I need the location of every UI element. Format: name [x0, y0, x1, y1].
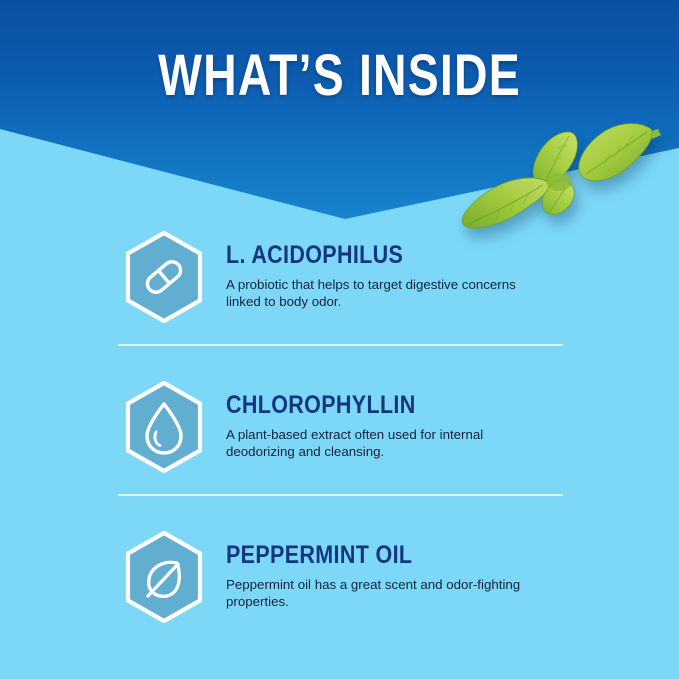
- ingredient-text: PEPPERMINT OIL Peppermint oil has a grea…: [226, 530, 526, 610]
- ingredient-item: CHLOROPHYLLIN A plant-based extract ofte…: [0, 380, 679, 460]
- ingredient-description: A plant-based extract often used for int…: [226, 427, 526, 460]
- ingredient-item: PEPPERMINT OIL Peppermint oil has a grea…: [0, 530, 679, 610]
- page-title: WHAT’S INSIDE: [68, 47, 611, 105]
- ingredient-item: L. ACIDOPHILUS A probiotic that helps to…: [0, 230, 679, 310]
- ingredient-description: Peppermint oil has a great scent and odo…: [226, 577, 526, 610]
- ingredient-title: L. ACIDOPHILUS: [226, 243, 484, 268]
- ingredient-title: CHLOROPHYLLIN: [226, 393, 484, 418]
- ingredient-text: L. ACIDOPHILUS A probiotic that helps to…: [226, 230, 526, 310]
- ingredient-text: CHLOROPHYLLIN A plant-based extract ofte…: [226, 380, 526, 460]
- ingredient-list: L. ACIDOPHILUS A probiotic that helps to…: [0, 230, 679, 610]
- water-droplet-icon: [122, 380, 206, 474]
- basil-leaves-icon: [455, 112, 670, 230]
- ingredient-title: PEPPERMINT OIL: [226, 543, 484, 568]
- ingredient-description: A probiotic that helps to target digesti…: [226, 277, 526, 310]
- capsule-pill-icon: [122, 230, 206, 324]
- leaf-icon: [122, 530, 206, 624]
- whats-inside-infographic: WHAT’S INSIDE: [0, 0, 679, 679]
